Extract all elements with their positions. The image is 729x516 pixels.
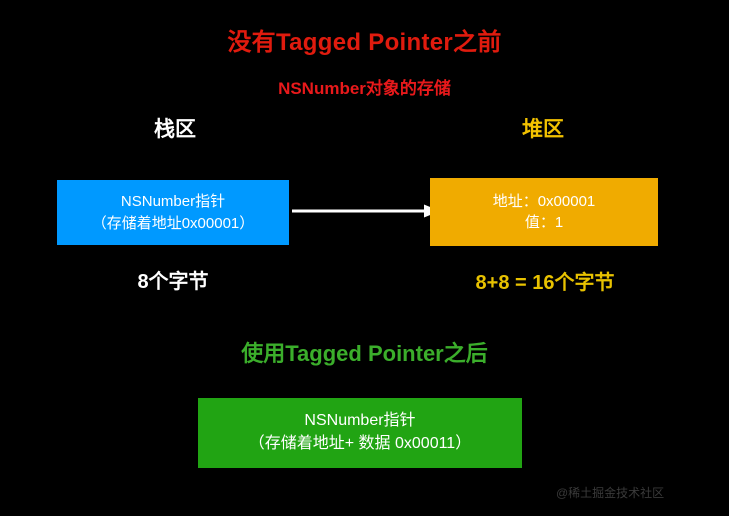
region-label-heap: 堆区 (478, 113, 608, 143)
page-subtitle: NSNumber对象的存储 (0, 74, 729, 99)
stack-pointer-box-line1: NSNumber指针 (121, 191, 225, 212)
stack-pointer-box-line2: （存储着地址0x00001） (92, 213, 255, 234)
tagged-pointer-box: NSNumber指针 （存储着地址+ 数据 0x00011） (198, 398, 522, 468)
heap-object-box-line1: 地址：0x00001 (493, 191, 596, 212)
page-title-after: 使用Tagged Pointer之后 (0, 336, 729, 368)
region-label-stack: 栈区 (110, 113, 240, 143)
heap-object-box: 地址：0x00001 值：1 (430, 178, 658, 246)
page-title-before: 没有Tagged Pointer之前 (0, 22, 729, 57)
heap-size-label: 8+8 = 16个字节 (440, 266, 650, 295)
stack-pointer-box: NSNumber指针 （存储着地址0x00001） (57, 180, 289, 245)
watermark: @稀土掘金技术社区 (556, 484, 664, 501)
heap-object-box-line2: 值：1 (525, 212, 563, 233)
arrow-right-icon (292, 203, 440, 219)
tagged-pointer-box-line2: （存储着地址+ 数据 0x00011） (249, 433, 471, 456)
slide-canvas: 没有Tagged Pointer之前 NSNumber对象的存储 栈区 堆区 N… (0, 0, 729, 516)
stack-size-label: 8个字节 (93, 265, 253, 294)
tagged-pointer-box-line1: NSNumber指针 (304, 410, 415, 433)
